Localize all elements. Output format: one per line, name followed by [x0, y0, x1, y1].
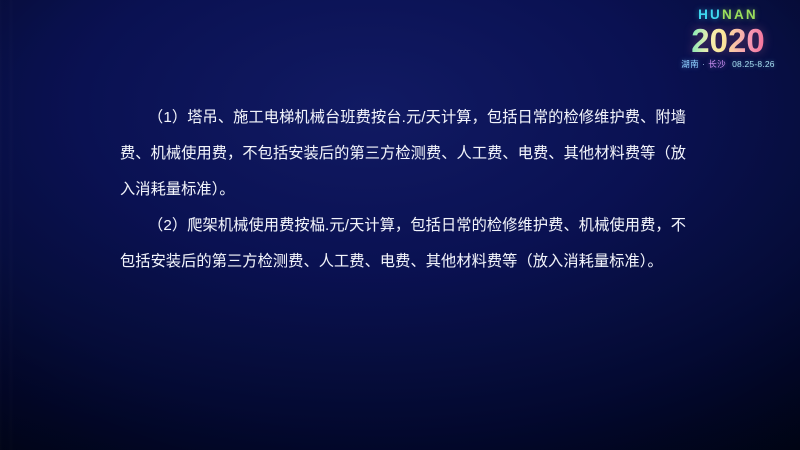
slide-canvas: HUNAN 2020 湖南 · 长沙 08.25-8.26 （1）塔吊、施工电梯…	[0, 0, 800, 450]
event-logo: HUNAN 2020 湖南 · 长沙 08.25-8.26	[664, 8, 792, 68]
logo-city-text: 长沙	[708, 60, 726, 69]
logo-hunan-text: HUNAN	[664, 8, 792, 22]
logo-hu-text: HU	[698, 7, 722, 22]
logo-subtitle: 湖南 · 长沙 08.25-8.26	[664, 60, 792, 69]
slide-body: （1）塔吊、施工电梯机械台班费按台.元/天计算，包括日常的检修维护费、附墙费、机…	[120, 100, 686, 280]
logo-separator-text: ·	[702, 60, 705, 69]
logo-date-text: 08.25-8.26	[732, 60, 775, 69]
logo-province-text: 湖南	[681, 60, 699, 69]
body-paragraph-1: （1）塔吊、施工电梯机械台班费按台.元/天计算，包括日常的检修维护费、附墙费、机…	[120, 100, 686, 208]
logo-nan-text: NAN	[722, 7, 758, 22]
body-paragraph-2: （2）爬架机械使用费按榀.元/天计算，包括日常的检修维护费、机械使用费，不包括安…	[120, 208, 686, 280]
logo-year-text: 2020	[664, 24, 792, 57]
